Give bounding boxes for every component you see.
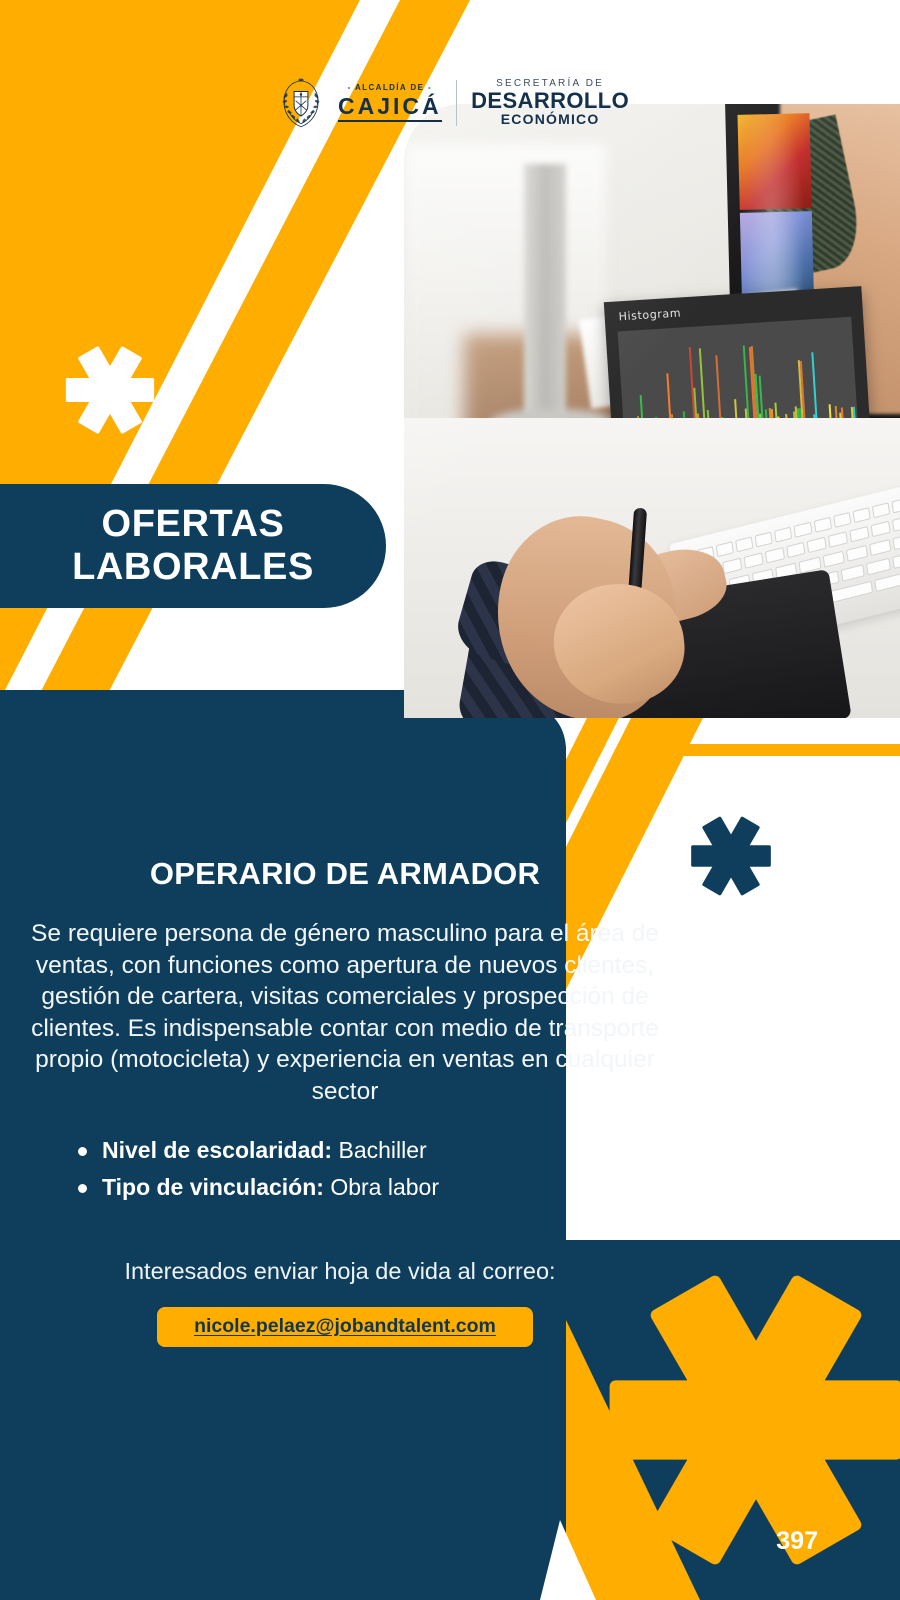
cajica-coat-of-arms-icon xyxy=(278,76,324,130)
badge-line-2: LABORALES xyxy=(72,546,314,589)
alcaldia-wordmark: - ALCALDÍA DE - CAJICÁ xyxy=(338,84,442,122)
alcaldia-name: CAJICÁ xyxy=(338,94,442,122)
histogram-label: Histogram xyxy=(618,306,681,323)
job-detail-label: Tipo de vinculación: xyxy=(102,1174,324,1200)
poster-root: Histogram xyxy=(0,0,900,1600)
secretaria-line2: DESARROLLO xyxy=(471,89,629,112)
secretaria-wordmark: SECRETARÍA DE DESARROLLO ECONÓMICO xyxy=(471,79,629,127)
contact-email-button[interactable]: nicole.pelaez@jobandtalent.com xyxy=(157,1307,533,1347)
photo-monitor-stand xyxy=(524,164,566,424)
photo-thumbnail xyxy=(737,113,811,209)
institutional-logo-bar: - ALCALDÍA DE - CAJICÁ SECRETARÍA DE DES… xyxy=(278,72,578,134)
badge-line-1: OFERTAS xyxy=(102,503,285,546)
logo-divider xyxy=(456,80,458,126)
alcaldia-eyebrow: - ALCALDÍA DE - xyxy=(348,84,432,92)
secretaria-line3: ECONÓMICO xyxy=(501,112,600,127)
job-detail-item: Nivel de escolaridad: Bachiller xyxy=(78,1132,676,1169)
job-detail-item: Tipo de vinculación: Obra labor xyxy=(78,1169,676,1206)
job-detail-label: Nivel de escolaridad: xyxy=(102,1137,332,1163)
job-posting-content: OPERARIO DE ARMADOR Se requiere persona … xyxy=(0,856,690,1347)
contact-email-text: nicole.pelaez@jobandtalent.com xyxy=(194,1315,496,1337)
job-title: OPERARIO DE ARMADOR xyxy=(14,856,676,892)
workstation-photo: Histogram xyxy=(404,104,900,718)
job-description: Se requiere persona de género masculino … xyxy=(14,918,676,1108)
page-number: 397 xyxy=(776,1527,818,1556)
job-details-list: Nivel de escolaridad: BachillerTipo de v… xyxy=(14,1132,676,1207)
ofertas-laborales-badge: OFERTAS LABORALES xyxy=(0,484,386,608)
cta-instruction: Interesados enviar hoja de vida al corre… xyxy=(14,1258,676,1285)
